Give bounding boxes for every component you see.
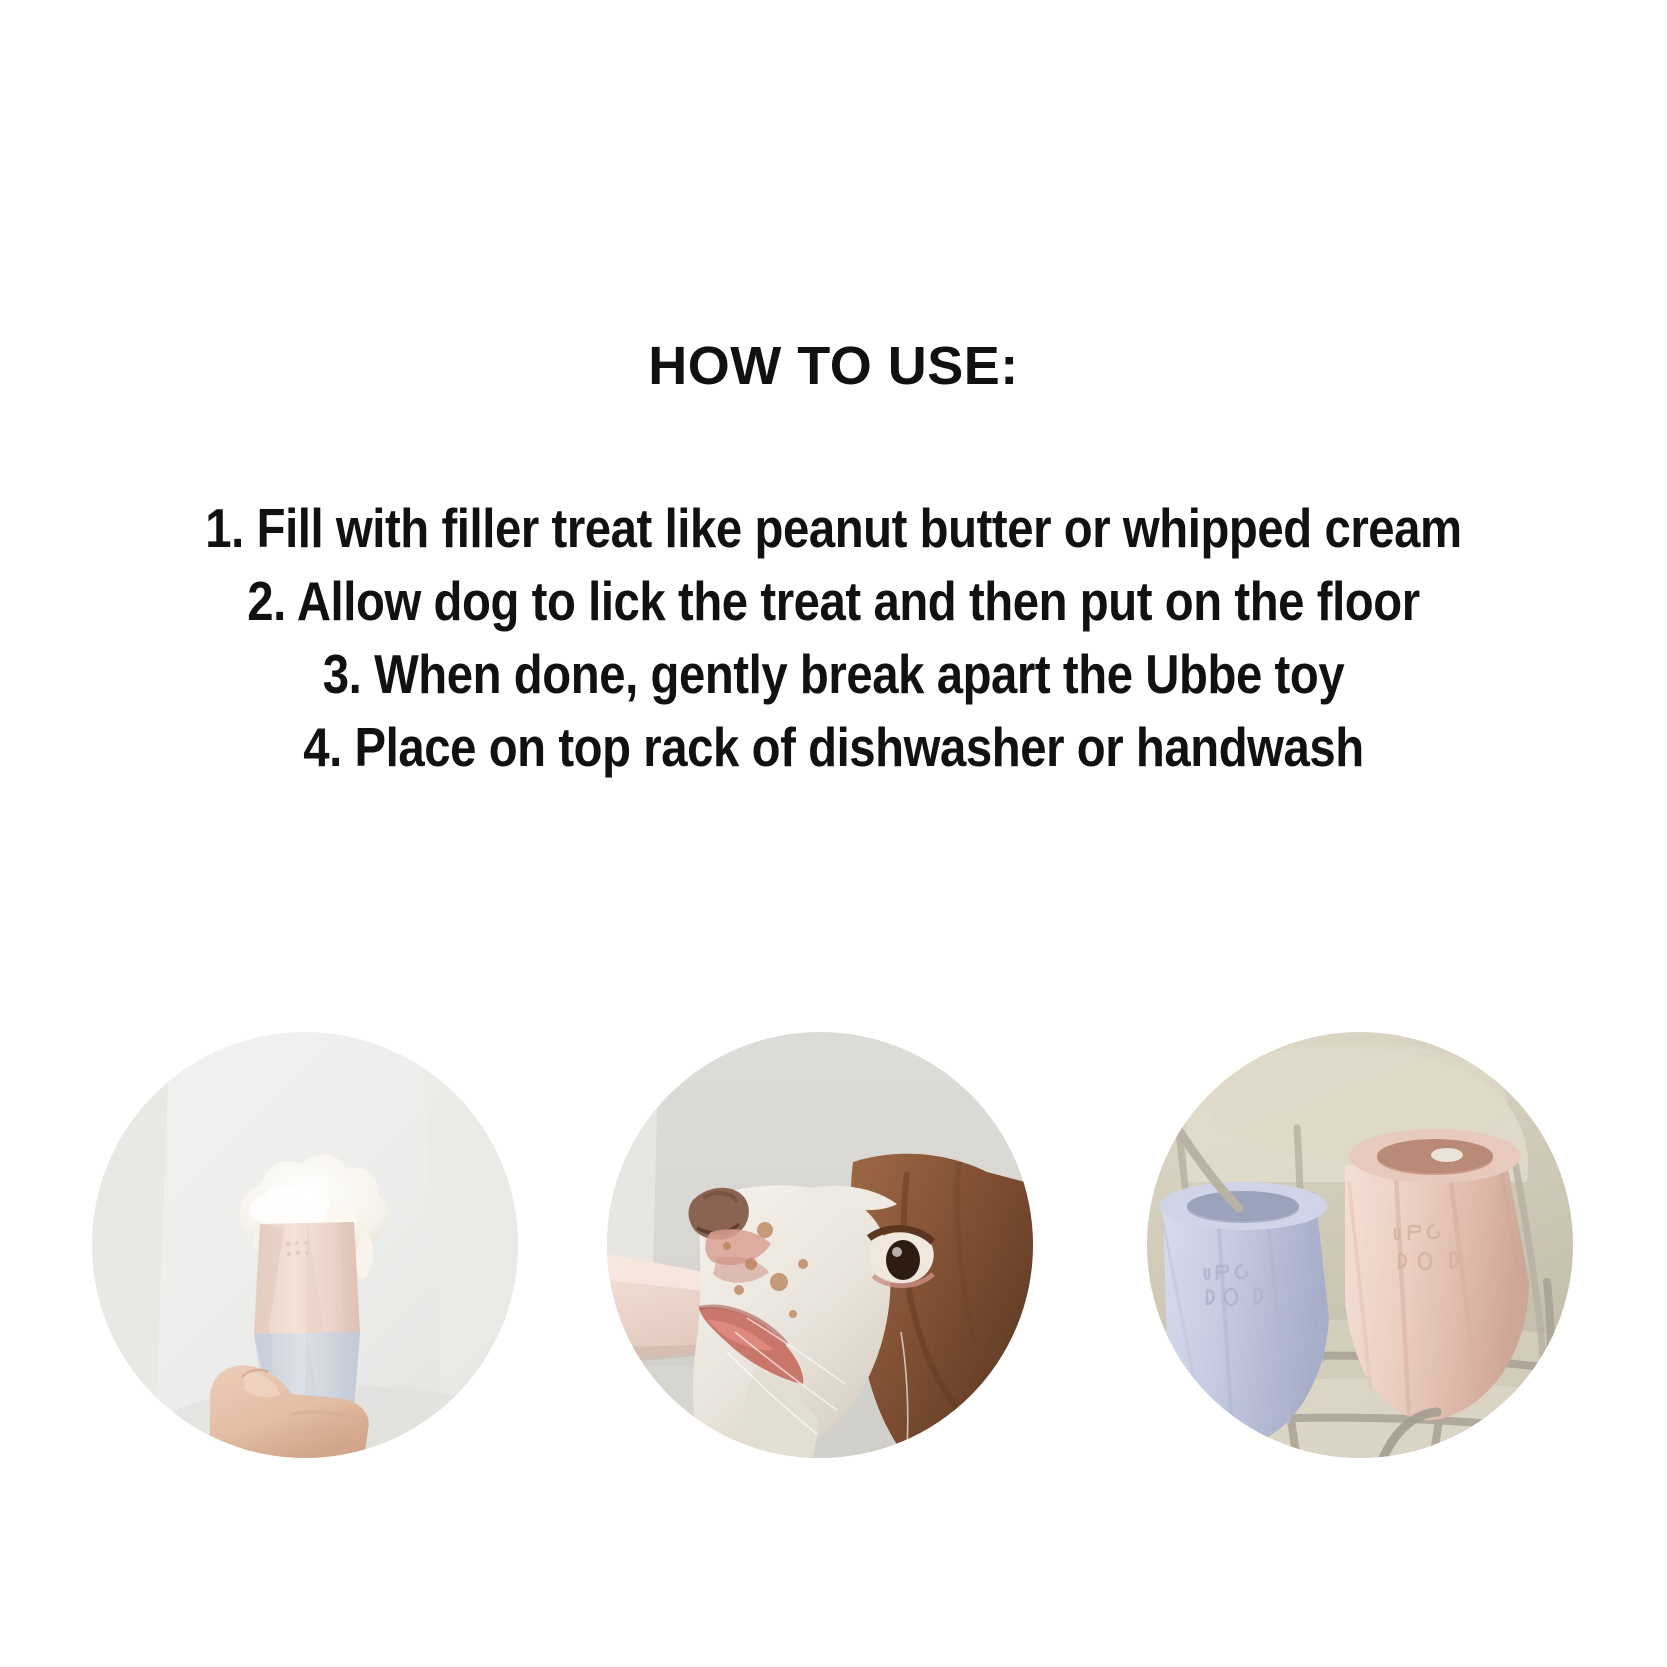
photo-row bbox=[0, 1032, 1667, 1462]
photo-dog-licking-toy bbox=[607, 1032, 1033, 1458]
photo-toys-in-dishwasher-rack bbox=[1147, 1032, 1573, 1458]
steps-list: 1. Fill with filler treat like peanut bu… bbox=[0, 492, 1667, 784]
step-item: 4. Place on top rack of dishwasher or ha… bbox=[117, 711, 1551, 784]
step-item: 3. When done, gently break apart the Ubb… bbox=[117, 638, 1551, 711]
step-item: 1. Fill with filler treat like peanut bu… bbox=[117, 492, 1551, 565]
step-item: 2. Allow dog to lick the treat and then … bbox=[117, 565, 1551, 638]
page-title: HOW TO USE: bbox=[0, 338, 1667, 395]
how-to-use-graphic: HOW TO USE: 1. Fill with filler treat li… bbox=[0, 0, 1667, 1667]
photo-hand-holding-filled-toy bbox=[92, 1032, 518, 1458]
